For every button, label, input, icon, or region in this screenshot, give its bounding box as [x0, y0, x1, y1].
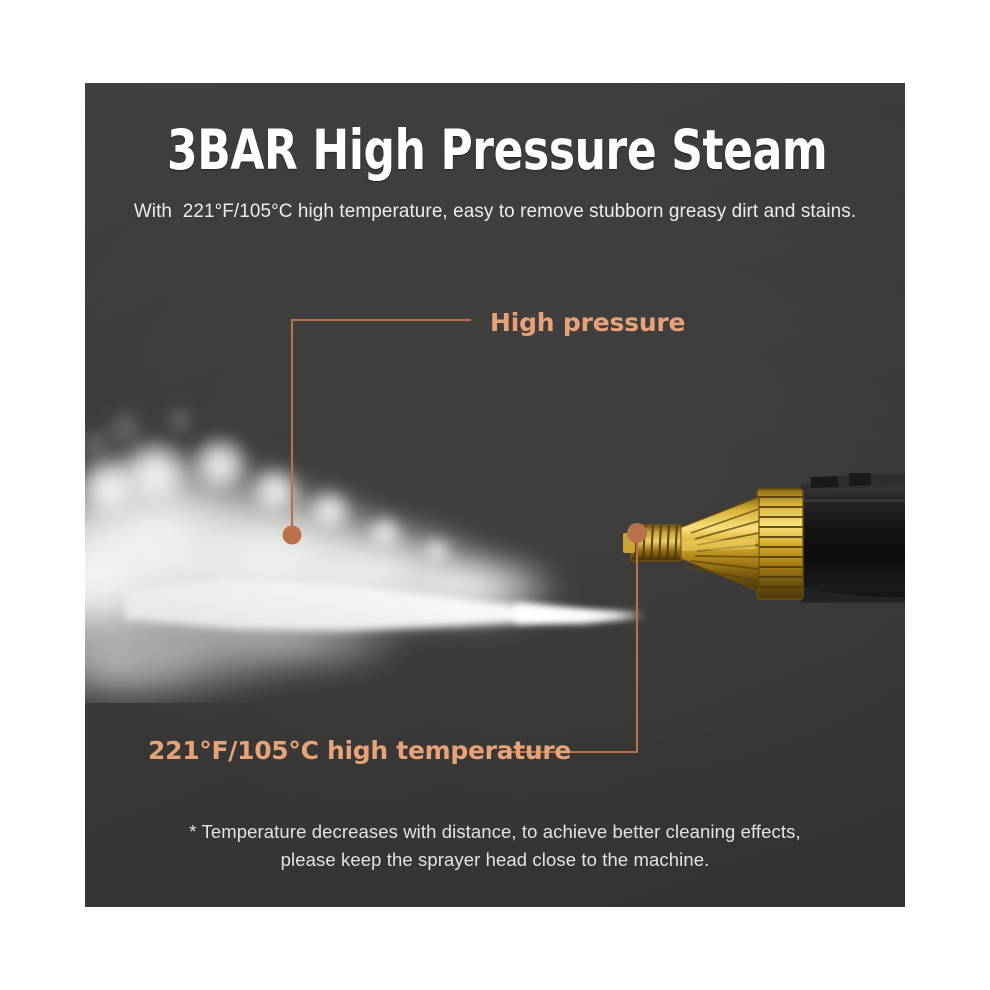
leader-line-high-pressure — [292, 320, 470, 535]
leader-line-high-temperature — [508, 533, 637, 752]
steam-jet-tip — [515, 603, 645, 623]
nozzle-threaded-tip — [623, 525, 681, 561]
nozzle-knurled-collar — [757, 489, 803, 599]
steam-lower-wisps — [85, 596, 415, 703]
page-subtitle: With 221°F/105°C high temperature, easy … — [97, 200, 892, 223]
nozzle-cone — [677, 497, 759, 591]
steam-jet-core — [125, 579, 641, 631]
steam-plume — [85, 383, 665, 703]
steam-upper-billows — [85, 432, 452, 566]
steam-high-wisps — [85, 404, 197, 465]
callout-label-high-temperature: 221°F/105°C high temperature — [148, 738, 571, 763]
product-panel: 3BAR High Pressure Steam With 221°F/105°… — [85, 83, 905, 907]
steam-cloud-body — [85, 443, 565, 678]
black-sprayer-body — [801, 473, 905, 603]
callout-label-high-pressure: High pressure — [490, 310, 685, 335]
callout-dot-high-pressure — [283, 526, 302, 545]
callout-dot-high-temperature — [627, 523, 647, 543]
product-marketing-image: 3BAR High Pressure Steam With 221°F/105°… — [0, 0, 990, 990]
footnote: * Temperature decreases with distance, t… — [145, 818, 845, 874]
page-title: 3BAR High Pressure Steam — [167, 123, 823, 178]
brass-sprayer-nozzle — [605, 463, 905, 623]
footnote-line-2: please keep the sprayer head close to th… — [145, 846, 845, 874]
footnote-line-1: * Temperature decreases with distance, t… — [145, 818, 845, 846]
